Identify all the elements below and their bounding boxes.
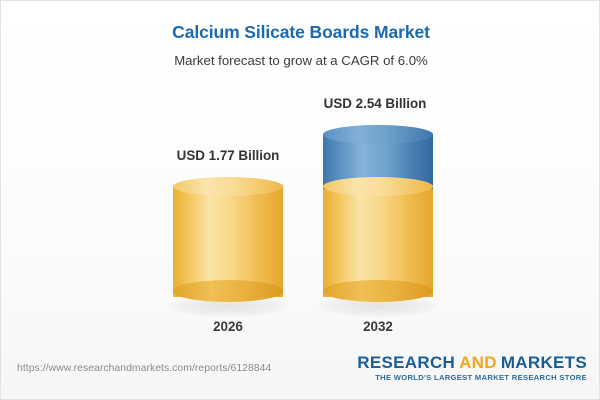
bar-value-label-2026: USD 1.77 Billion: [128, 148, 328, 163]
logo-word-and: AND: [455, 353, 501, 372]
bar-bottom-ellipse-2032: [323, 280, 433, 302]
logo-word-markets: MARKETS: [501, 353, 587, 372]
chart-footer: https://www.researchandmarkets.com/repor…: [1, 347, 600, 399]
logo-word-research: RESEARCH: [357, 353, 455, 372]
bar-top-ellipse-2026: [173, 177, 283, 196]
logo-tagline: THE WORLD'S LARGEST MARKET RESEARCH STOR…: [357, 372, 587, 382]
bar-category-label-2032: 2032: [278, 319, 478, 334]
report-url[interactable]: https://www.researchandmarkets.com/repor…: [17, 363, 271, 374]
bar-cylinder-2026[interactable]: [173, 177, 283, 306]
bar-cylinder-2032[interactable]: [323, 125, 433, 306]
bar-top-ellipse-2032: [323, 125, 433, 144]
bar-segment-divider-ellipse-2032: [323, 177, 433, 196]
bar-value-label-2032: USD 2.54 Billion: [275, 96, 475, 111]
researchandmarkets-logo[interactable]: RESEARCHANDMARKETS THE WORLD'S LARGEST M…: [357, 354, 587, 382]
chart-plot-area: USD 1.77 Billion 2026 USD 2.54 Billion: [1, 1, 600, 400]
bar-bottom-ellipse-2026: [173, 280, 283, 302]
logo-wordmark: RESEARCHANDMARKETS: [357, 354, 587, 372]
chart-card: Calcium Silicate Boards Market Market fo…: [0, 0, 600, 400]
